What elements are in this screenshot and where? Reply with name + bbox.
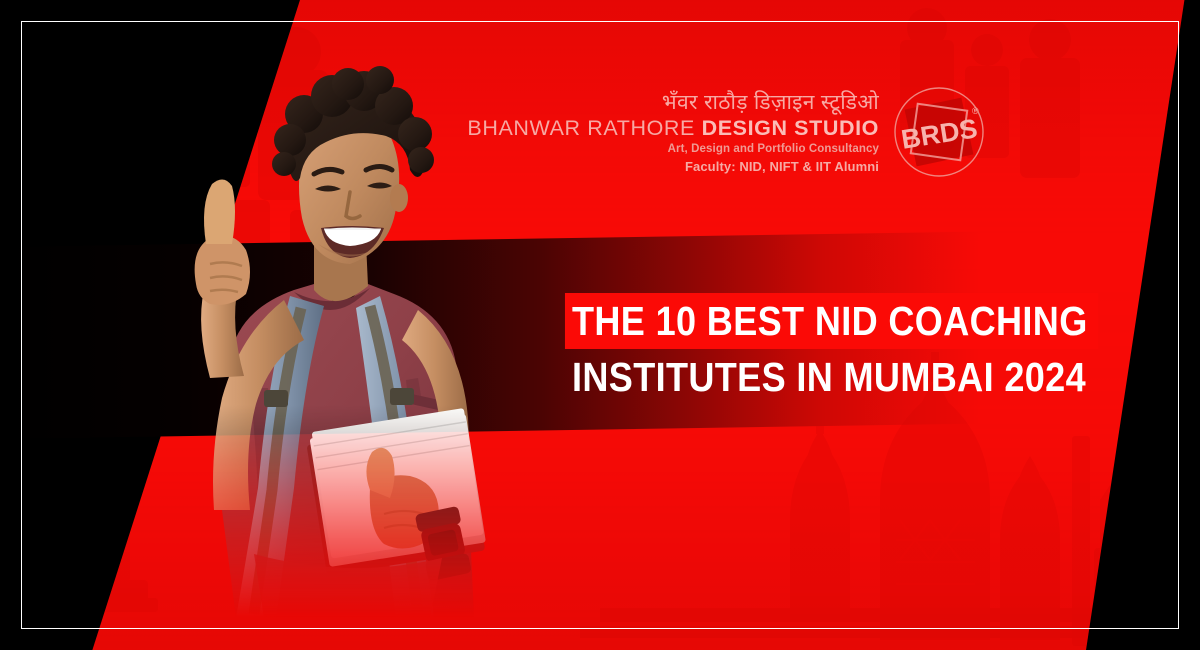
brds-logo: भँवर राठौड़ डिज़ाइन स्टूडिओ BHANWAR RATH… (467, 86, 985, 178)
promo-banner: भँवर राठौड़ डिज़ाइन स्टूडिओ BHANWAR RATH… (0, 0, 1200, 650)
svg-text:®: ® (972, 106, 979, 116)
logo-tagline: Art, Design and Portfolio Consultancy (467, 144, 879, 156)
headline-line-1: THE 10 BEST NID COACHING (572, 293, 1088, 349)
logo-text-block: भँवर राठौड़ डिज़ाइन स्टूडिओ BHANWAR RATH… (467, 92, 879, 173)
logo-faculty: Faculty: NID, NIFT & IIT Alumni (467, 160, 879, 173)
headline: THE 10 BEST NID COACHING INSTITUTES IN M… (572, 293, 1092, 405)
logo-name-light: BHANWAR RATHORE (467, 116, 695, 140)
logo-name: BHANWAR RATHORE DESIGN STUDIO (467, 118, 879, 140)
headline-line-2: INSTITUTES IN MUMBAI 2024 (572, 349, 1030, 405)
brds-monogram-icon: BRDS ® (893, 86, 985, 178)
logo-hindi-name: भँवर राठौड़ डिज़ाइन स्टूडिओ (467, 92, 879, 113)
logo-name-bold: DESIGN STUDIO (702, 116, 879, 140)
